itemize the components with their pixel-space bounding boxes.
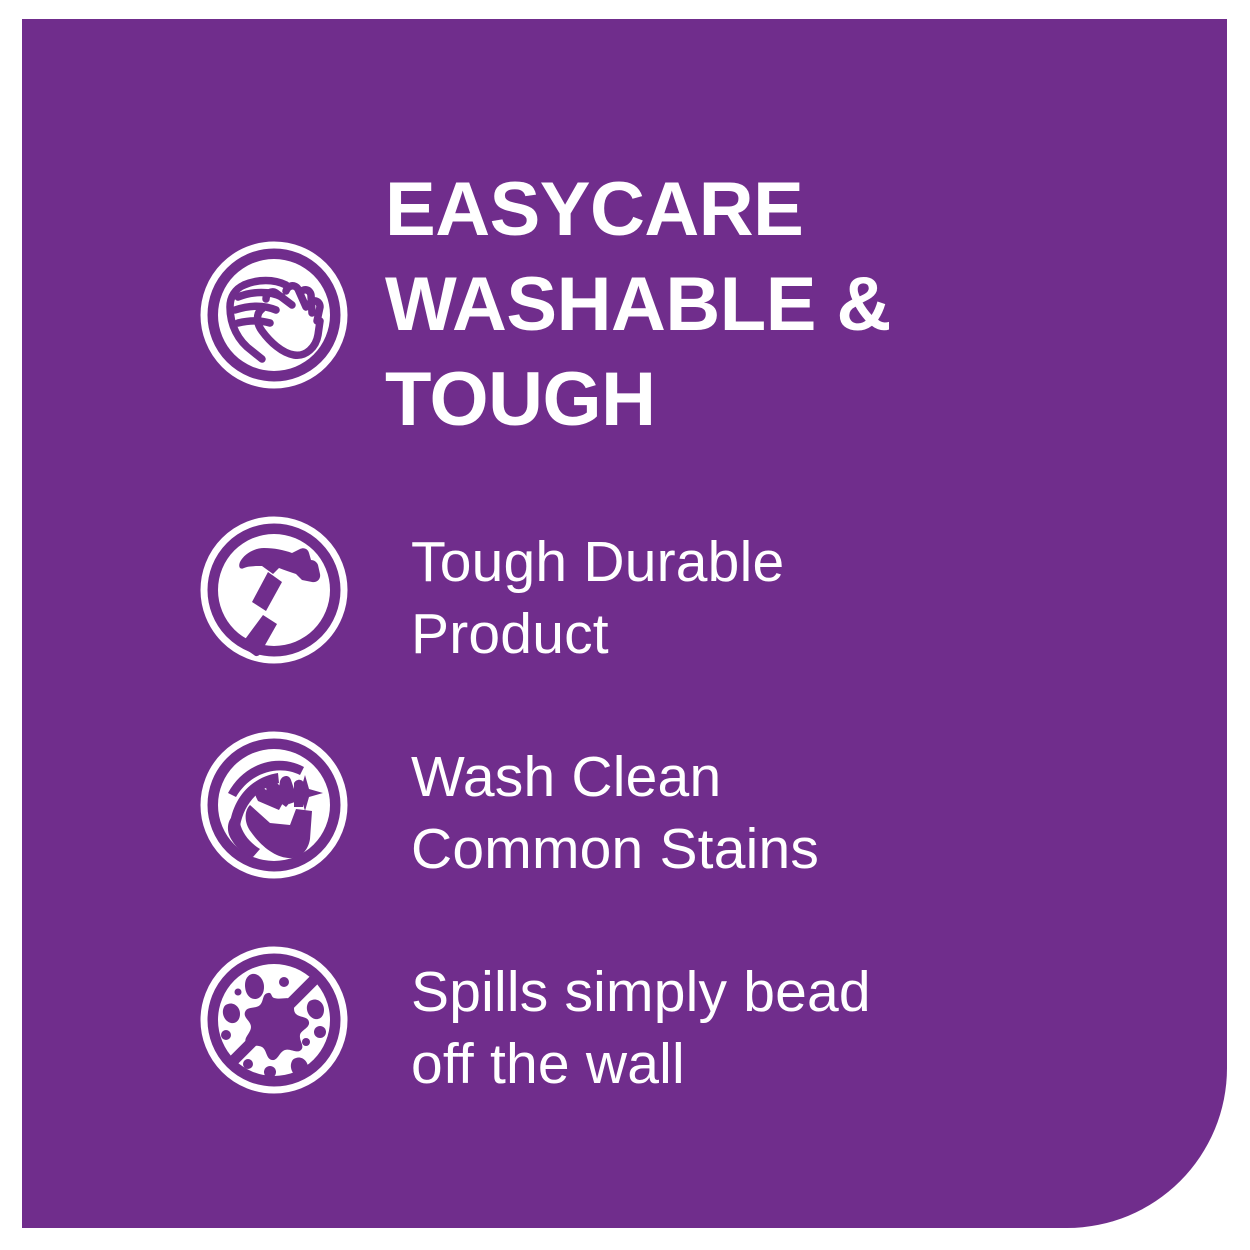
feature-item-tough-durable: Tough Durable Product: [200, 516, 1200, 670]
feature-label-spills-bead: Spills simply bead off the wall: [411, 946, 871, 1100]
feature-label-tough-durable: Tough Durable Product: [411, 516, 784, 670]
hand-wiping-sparkle-icon: [200, 731, 348, 879]
feature-label-wash-clean: Wash Clean Common Stains: [411, 731, 819, 885]
feature-item-wash-clean: Wash Clean Common Stains: [200, 731, 1200, 885]
hammer-icon: [200, 516, 348, 664]
no-splatter-stain-icon: [200, 946, 348, 1094]
feature-item-washable: [200, 241, 1200, 389]
feature-item-spills-bead: Spills simply bead off the wall: [200, 946, 1200, 1100]
promo-graphic: EASYCARE WASHABLE & TOUGH: [0, 0, 1250, 1250]
washing-hands-icon: [200, 241, 348, 389]
purple-panel: EASYCARE WASHABLE & TOUGH: [22, 19, 1227, 1228]
